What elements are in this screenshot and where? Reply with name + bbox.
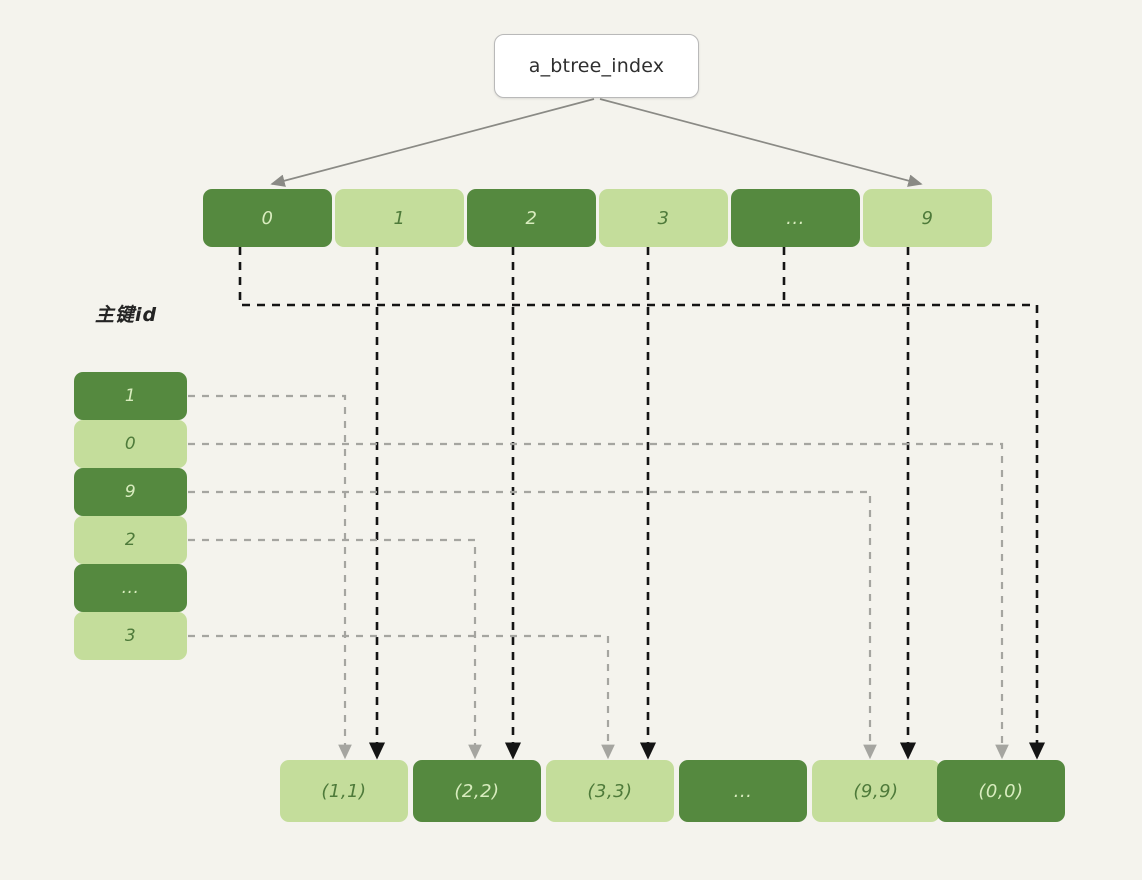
pk-cell-0[interactable]: 0 xyxy=(74,420,187,468)
tuple-cell-9-9[interactable]: (9,9) xyxy=(812,760,940,822)
pk-cell-1-label: 1 xyxy=(125,386,136,406)
index-cell-3[interactable]: 3 xyxy=(599,189,728,247)
index-cell-ellipsis-label: ... xyxy=(786,208,805,229)
pk-cell-ellipsis-label: ... xyxy=(122,578,140,598)
tuple-cell-0-0[interactable]: (0,0) xyxy=(937,760,1065,822)
tuple-cell-3-3[interactable]: (3,3) xyxy=(546,760,674,822)
tuple-cell-2-2[interactable]: (2,2) xyxy=(413,760,541,822)
pk-cell-3[interactable]: 3 xyxy=(74,612,187,660)
index-cell-3-label: 3 xyxy=(658,208,670,229)
tuple-cell-2-2-label: (2,2) xyxy=(454,781,499,802)
index-cell-1-label: 1 xyxy=(394,208,406,229)
pk-cell-3-label: 3 xyxy=(125,626,136,646)
pk-cell-ellipsis[interactable]: ... xyxy=(74,564,187,612)
index-cell-2[interactable]: 2 xyxy=(467,189,596,247)
index-to-tuple-connectors xyxy=(240,247,1037,757)
tuple-cell-ellipsis-label: ... xyxy=(734,781,753,802)
tuple-cell-0-0-label: (0,0) xyxy=(978,781,1023,802)
pk-cell-0-label: 0 xyxy=(125,434,136,454)
index-cell-ellipsis[interactable]: ... xyxy=(731,189,860,247)
tuple-cell-1-1[interactable]: (1,1) xyxy=(280,760,408,822)
pk-cell-2[interactable]: 2 xyxy=(74,516,187,564)
root-node[interactable]: a_btree_index xyxy=(494,34,699,98)
index-cell-0-label: 0 xyxy=(262,208,274,229)
primary-key-column-label: 主键id xyxy=(95,300,157,327)
root-to-index-connectors xyxy=(272,99,921,184)
index-cell-2-label: 2 xyxy=(526,208,538,229)
pk-cell-9[interactable]: 9 xyxy=(74,468,187,516)
index-cell-0[interactable]: 0 xyxy=(203,189,332,247)
tuple-cell-1-1-label: (1,1) xyxy=(321,781,366,802)
pk-cell-9-label: 9 xyxy=(125,482,136,502)
index-cell-9[interactable]: 9 xyxy=(863,189,992,247)
index-cell-1[interactable]: 1 xyxy=(335,189,464,247)
pk-cell-2-label: 2 xyxy=(125,530,136,550)
tuple-cell-9-9-label: (9,9) xyxy=(853,781,898,802)
tuple-cell-3-3-label: (3,3) xyxy=(587,781,632,802)
index-cell-9-label: 9 xyxy=(922,208,934,229)
diagram-canvas: a_btree_index 0 1 2 3 ... 9 主键id 1 0 9 2… xyxy=(0,0,1142,880)
tuple-cell-ellipsis[interactable]: ... xyxy=(679,760,807,822)
pk-cell-1[interactable]: 1 xyxy=(74,372,187,420)
root-node-label: a_btree_index xyxy=(529,55,665,77)
pk-to-tuple-connectors xyxy=(188,396,1002,757)
